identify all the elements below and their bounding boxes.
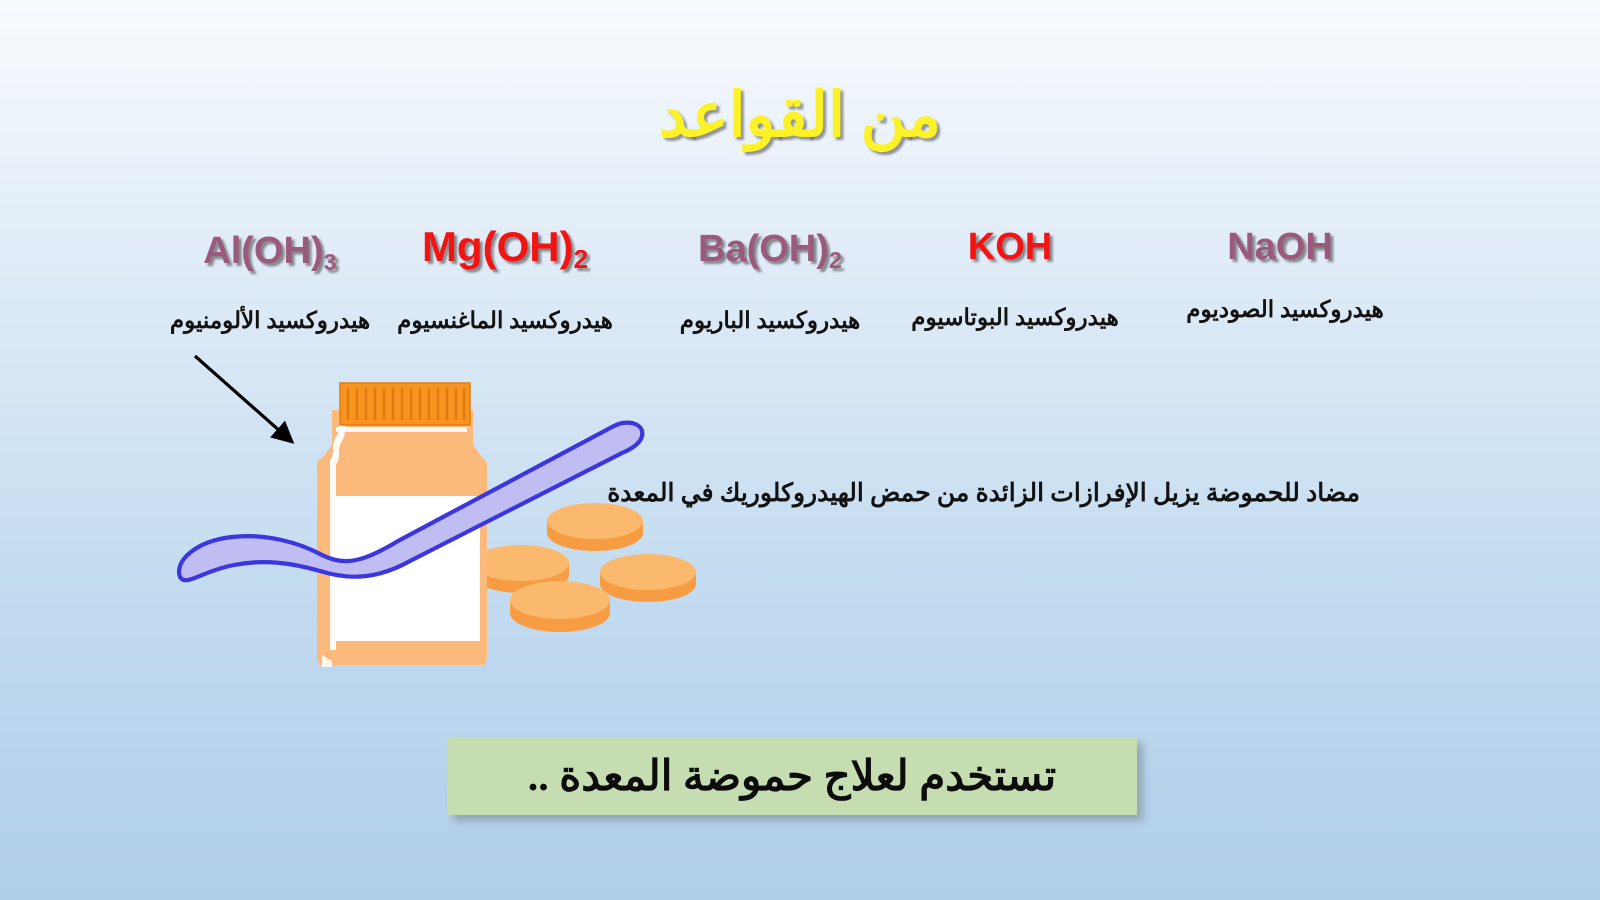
formula-text: KOH [968,226,1052,268]
antacid-description: مضاد للحموضة يزيل الإفرازات الزائدة من ح… [560,478,1360,508]
formula-sodium-hydroxide: NaOH [1155,228,1405,266]
formula-subscript: 3 [324,249,337,275]
formula-text: Al(OH) [203,230,323,272]
formula-text: Ba(OH) [698,228,829,270]
formula-barium-hydroxide: Ba(OH)2 [620,230,920,268]
usage-banner-text: تستخدم لعلاج حموضة المعدة .. [528,751,1056,801]
slide-canvas: من القواعد Al(OH)3 هيدروكسيد الألومنيوم … [0,0,1600,900]
label-magnesium-hydroxide: هيدروكسيد الماغنسيوم [355,308,655,333]
formula-text: Mg(OH) [422,223,574,270]
formula-magnesium-hydroxide: Mg(OH)2 [355,226,655,268]
formula-potassium-hydroxide: KOH [890,228,1130,266]
formula-subscript: 2 [574,244,588,274]
bottle-cap-icon [340,383,470,425]
tablet-icon [547,503,643,551]
page-title: من القواعد [0,78,1600,152]
tablet-icon [510,581,610,632]
formula-subscript: 2 [829,247,842,273]
label-sodium-hydroxide: هيدروكسيد الصوديوم [1135,297,1435,322]
tablet-group [473,503,696,632]
usage-banner: تستخدم لعلاج حموضة المعدة .. [447,737,1137,815]
label-potassium-hydroxide: هيدروكسيد البوتاسيوم [870,305,1160,330]
formula-text: NaOH [1227,226,1333,268]
tablet-icon [600,554,696,602]
antacid-illustration [160,365,720,695]
